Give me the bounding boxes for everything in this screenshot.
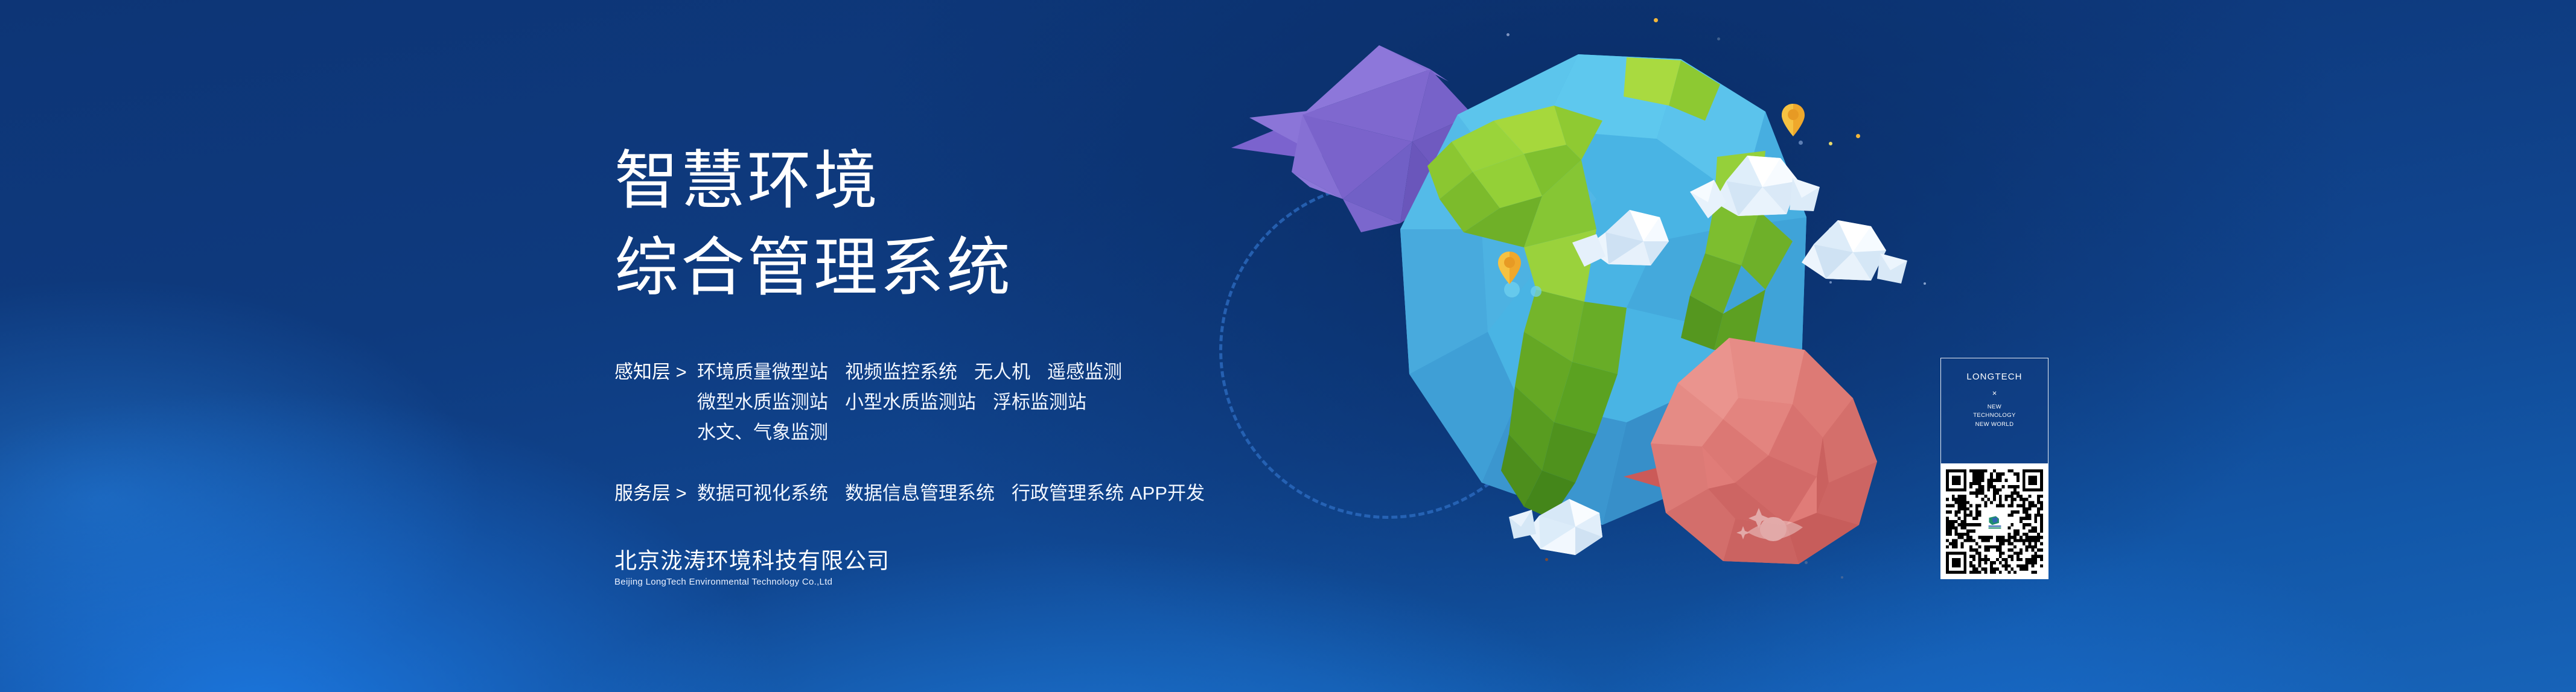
layer-line: 微型水质监测站 小型水质监测站 浮标监测站: [697, 387, 1122, 417]
layer-list: 感知层 > 环境质量微型站 视频监控系统 无人机 遥感监测 微型水质监测站 小型…: [614, 357, 1205, 509]
tagline-line-1: NEW: [1973, 403, 2016, 411]
qr-center-logo: [1983, 510, 2006, 533]
layer-label-service[interactable]: 服务层 >: [614, 478, 697, 509]
layer-item[interactable]: 行政管理系统: [1012, 478, 1124, 509]
layer-row-service: 服务层 > 数据可视化系统 数据信息管理系统 行政管理系统 APP开发: [614, 478, 1205, 509]
layer-item[interactable]: 遥感监测: [1047, 357, 1122, 387]
layer-item[interactable]: 水文、气象监测: [697, 417, 828, 448]
layer-item[interactable]: 数据可视化系统: [697, 478, 828, 509]
qr-card: LONGTECH × NEW TECHNOLOGY NEW WORLD: [1940, 358, 2048, 579]
map-pin-icon: [1497, 250, 1522, 285]
layer-items-perception: 环境质量微型站 视频监控系统 无人机 遥感监测 微型水质监测站 小型水质监测站 …: [697, 357, 1122, 448]
layer-line: 数据可视化系统 数据信息管理系统 行政管理系统 APP开发: [697, 478, 1205, 509]
layer-item[interactable]: 环境质量微型站: [697, 357, 828, 387]
company-signature: 北京泷涛环境科技有限公司 Beijing LongTech Environmen…: [614, 548, 890, 587]
star-dot: [1654, 18, 1658, 22]
layer-item[interactable]: 数据信息管理系统: [845, 478, 995, 509]
tagline-line-2: TECHNOLOGY: [1973, 411, 2016, 420]
brand-tagline: NEW TECHNOLOGY NEW WORLD: [1973, 403, 2016, 429]
tagline-line-3: NEW WORLD: [1973, 421, 2016, 429]
longtech-logo-icon: [1987, 514, 2003, 530]
layer-item[interactable]: 视频监控系统: [845, 357, 957, 387]
layer-item[interactable]: 微型水质监测站: [697, 387, 828, 417]
layer-item[interactable]: 浮标监测站: [993, 387, 1086, 417]
layer-line: 水文、气象监测: [697, 417, 1122, 448]
cloud-shape: [1503, 492, 1618, 564]
layer-row-perception: 感知层 > 环境质量微型站 视频监控系统 无人机 遥感监测 微型水质监测站 小型…: [614, 357, 1205, 448]
company-name-cn: 北京泷涛环境科技有限公司: [614, 548, 890, 574]
layer-item[interactable]: APP开发: [1130, 478, 1205, 509]
layer-items-service: 数据可视化系统 数据信息管理系统 行政管理系统 APP开发: [697, 478, 1205, 509]
brand-label: LONGTECH: [1966, 372, 2022, 382]
layer-item[interactable]: 小型水质监测站: [845, 387, 976, 417]
layer-label-perception[interactable]: 感知层 >: [614, 357, 697, 387]
space-illustration: [1207, 36, 1992, 640]
page-title: 智慧环境 综合管理系统: [614, 138, 1013, 311]
map-pin-icon: [1781, 103, 1806, 138]
cloud-shape: [1572, 199, 1693, 278]
cross-separator-icon: ×: [1992, 389, 1997, 397]
headline-line-1: 智慧环境: [614, 145, 880, 217]
qr-card-header: LONGTECH × NEW TECHNOLOGY NEW WORLD: [1940, 358, 2048, 464]
qr-code[interactable]: [1940, 464, 2048, 579]
red-planet: [1624, 332, 1883, 573]
company-name-en: Beijing LongTech Environmental Technolog…: [614, 577, 890, 587]
cloud-shape: [1787, 211, 1913, 296]
layer-item[interactable]: 无人机: [974, 357, 1030, 387]
promotional-banner: 智慧环境 综合管理系统 感知层 > 环境质量微型站 视频监控系统 无人机 遥感监…: [0, 0, 2576, 692]
headline-line-2: 综合管理系统: [614, 224, 1013, 311]
layer-line: 环境质量微型站 视频监控系统 无人机 遥感监测: [697, 357, 1122, 387]
